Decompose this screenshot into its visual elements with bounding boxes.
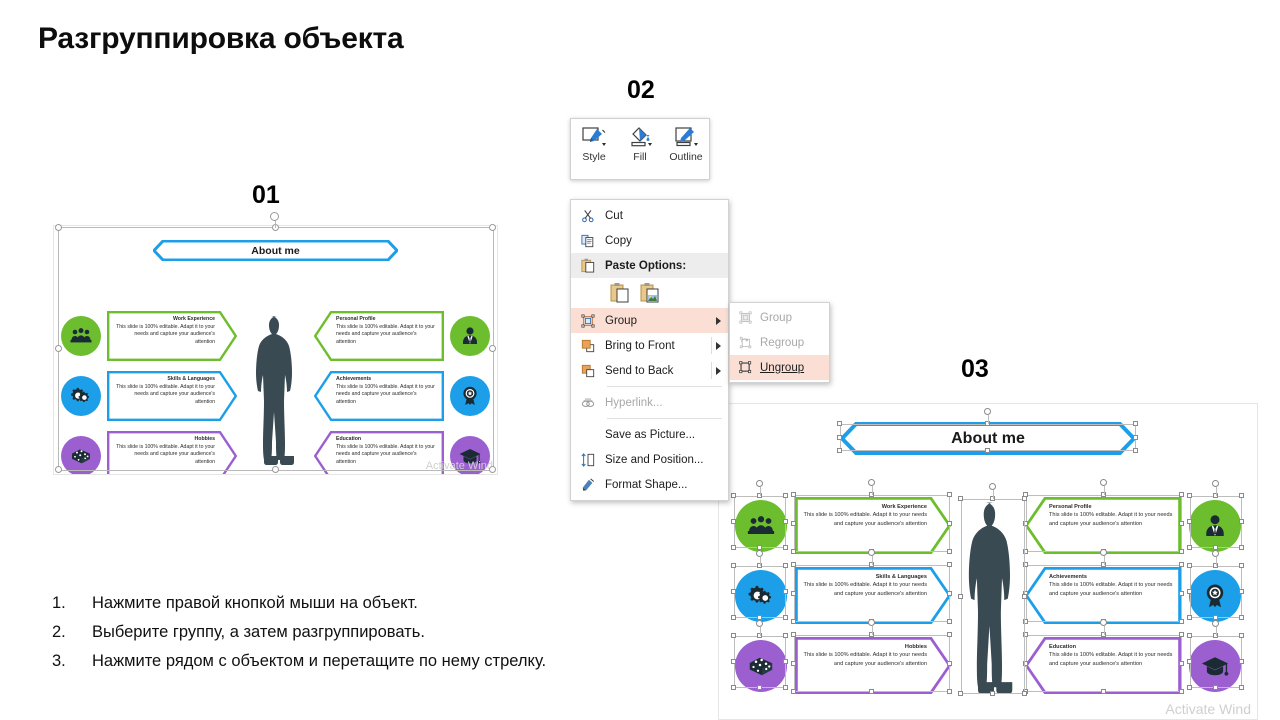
context-menu-item-size-and-position[interactable]: Size and Position... — [571, 447, 728, 472]
person-suit-icon-glyph — [458, 324, 482, 348]
info-card-text: Personal Profile This slide is 100% edit… — [336, 316, 437, 346]
info-card-body: This slide is 100% editable. Adapt it to… — [803, 581, 927, 598]
person-suit-icon[interactable] — [1189, 500, 1241, 552]
menu-separator — [607, 386, 722, 387]
format-shape-icon — [571, 478, 605, 492]
info-row: Education This slide is 100% editable. A… — [314, 431, 497, 475]
info-card-heading: Education — [1049, 643, 1173, 651]
info-rows: Work Experience This slide is 100% edita… — [54, 226, 497, 474]
group-submenu-group-label: Group — [760, 312, 825, 324]
info-card[interactable]: Achievements This slide is 100% editable… — [314, 371, 444, 421]
info-card[interactable]: Skills & Languages This slide is 100% ed… — [795, 567, 951, 624]
info-card-body: This slide is 100% editable. Adapt it to… — [1049, 511, 1173, 528]
info-card-body: This slide is 100% editable. Adapt it to… — [114, 444, 215, 467]
group-icon — [571, 314, 605, 328]
person-suit-icon-glyph — [1200, 511, 1230, 541]
info-card-text: Hobbies This slide is 100% editable. Ada… — [803, 643, 927, 668]
info-card[interactable]: Personal Profile This slide is 100% edit… — [314, 311, 444, 361]
graduation-cap-icon — [450, 436, 490, 475]
context-menu-hyperlink-label: Hyperlink... — [605, 397, 724, 409]
hyperlink-icon-glyph — [581, 396, 595, 410]
info-card-heading: Personal Profile — [1049, 503, 1173, 511]
hyperlink-icon — [571, 396, 605, 410]
info-card-text: Work Experience This slide is 100% edita… — [803, 503, 927, 528]
fill-bucket-icon-glyph — [627, 126, 653, 148]
chevron-right-icon — [712, 317, 724, 325]
info-card-heading: Personal Profile — [336, 316, 437, 324]
info-row: Work Experience This slide is 100% edita… — [719, 497, 951, 554]
submenu-divider — [711, 362, 712, 379]
shape-style-icon — [581, 124, 607, 150]
graduation-cap-icon[interactable] — [1189, 640, 1241, 692]
award-icon-glyph — [458, 384, 482, 408]
context-menu-group-label: Group — [605, 315, 712, 327]
context-menu-item-copy[interactable]: Copy — [571, 228, 728, 253]
regroup-icon-glyph — [739, 336, 752, 349]
menu-separator — [607, 418, 722, 419]
info-card-heading: Hobbies — [803, 643, 927, 651]
ungroup-icon-glyph — [739, 361, 752, 374]
chevron-right-icon — [712, 342, 724, 350]
group-icon-glyph — [739, 311, 752, 324]
copy-icon — [571, 234, 605, 248]
paste-icon-glyph — [581, 258, 595, 273]
info-card-heading: Work Experience — [114, 316, 215, 324]
submenu-divider — [711, 337, 712, 354]
info-card-body: This slide is 100% editable. Adapt it to… — [114, 324, 215, 347]
graduation-cap-icon-glyph — [1200, 651, 1230, 681]
paste-keep-formatting-icon[interactable] — [609, 281, 631, 305]
context-menu[interactable]: Cut Copy Paste Options: — [570, 199, 729, 501]
bring-front-icon — [571, 339, 605, 353]
group-submenu-item-ungroup[interactable]: Ungroup — [730, 355, 829, 380]
info-card-body: This slide is 100% editable. Adapt it to… — [803, 511, 927, 528]
info-card[interactable]: Work Experience This slide is 100% edita… — [107, 311, 237, 361]
person-suit-icon — [450, 316, 490, 356]
instruction-text: Нажмите правой кнопкой мыши на объект. — [92, 589, 418, 618]
mini-toolbar[interactable]: Style Fill Outline — [570, 118, 710, 180]
scissors-icon-glyph — [581, 209, 595, 223]
group-submenu-regroup-label: Regroup — [760, 337, 825, 349]
slide-content: About me — [54, 226, 497, 474]
info-card[interactable]: Hobbies This slide is 100% editable. Ada… — [795, 637, 951, 694]
group-submenu-item-regroup: Regroup — [730, 330, 829, 355]
page-title: Разгруппировка объекта — [38, 22, 404, 56]
mini-toolbar-fill-label: Fill — [633, 151, 646, 163]
slide-preview-ungrouped[interactable]: About me — [718, 403, 1258, 720]
info-row: Personal Profile This slide is 100% edit… — [314, 311, 497, 361]
award-icon[interactable] — [1189, 570, 1241, 622]
instructions-list: 1. Нажмите правой кнопкой мыши на объект… — [52, 589, 546, 676]
outline-pen-icon-glyph — [673, 126, 699, 148]
outline-pen-icon — [673, 124, 699, 150]
context-menu-item-group[interactable]: Group — [571, 308, 728, 333]
fill-bucket-icon — [627, 124, 653, 150]
info-card-heading: Achievements — [336, 376, 437, 384]
context-menu-item-send-to-back[interactable]: Send to Back — [571, 358, 728, 383]
paste-picture-icon[interactable] — [639, 281, 661, 305]
mini-toolbar-outline-button[interactable]: Outline — [663, 124, 709, 163]
info-row: Education This slide is 100% editable. A… — [1025, 637, 1257, 694]
info-row: Personal Profile This slide is 100% edit… — [1025, 497, 1257, 554]
rotation-handle[interactable] — [270, 212, 279, 221]
gears-icon-glyph — [746, 581, 776, 611]
info-card-text: Skills & Languages This slide is 100% ed… — [114, 376, 215, 406]
info-card-body: This slide is 100% editable. Adapt it to… — [336, 384, 437, 407]
info-card-text: Achievements This slide is 100% editable… — [1049, 573, 1173, 598]
regroup-icon — [730, 336, 760, 349]
info-card-body: This slide is 100% editable. Adapt it to… — [336, 444, 437, 467]
step-number-03: 03 — [961, 355, 989, 384]
gears-icon — [61, 376, 101, 416]
context-menu-bring-to-front-label: Bring to Front — [605, 340, 712, 352]
context-menu-save-as-picture-label: Save as Picture... — [605, 429, 724, 441]
award-icon — [450, 376, 490, 416]
paste-icon — [571, 258, 605, 273]
instruction-item: 1. Нажмите правой кнопкой мыши на объект… — [52, 589, 546, 618]
instruction-text: Выберите группу, а затем разгруппировать… — [92, 618, 425, 647]
send-back-icon-glyph — [581, 364, 595, 378]
info-card-body: This slide is 100% editable. Adapt it to… — [114, 384, 215, 407]
paste-options-row — [571, 278, 728, 308]
info-card-heading: Work Experience — [803, 503, 927, 511]
award-icon-glyph — [1200, 581, 1230, 611]
mini-toolbar-outline-label: Outline — [669, 151, 702, 163]
info-row: Achievements This slide is 100% editable… — [314, 371, 497, 421]
paste-keep-formatting-icon-glyph — [610, 282, 630, 304]
chevron-right-icon-glyph — [716, 367, 721, 375]
ungroup-icon — [730, 361, 760, 374]
info-card[interactable]: Work Experience This slide is 100% edita… — [795, 497, 951, 554]
instruction-number: 2. — [52, 618, 92, 647]
info-card-text: Hobbies This slide is 100% editable. Ada… — [114, 436, 215, 466]
info-rows: Work Experience This slide is 100% edita… — [719, 404, 1257, 719]
info-card-body: This slide is 100% editable. Adapt it to… — [1049, 581, 1173, 598]
context-menu-item-cut[interactable]: Cut — [571, 203, 728, 228]
info-card-body: This slide is 100% editable. Adapt it to… — [336, 324, 437, 347]
instruction-number: 1. — [52, 589, 92, 618]
about-me-label: About me — [251, 245, 299, 257]
group-submenu-ungroup-label: Ungroup — [760, 362, 825, 374]
context-menu-item-hyperlink: Hyperlink... — [571, 390, 728, 415]
group-submenu-item-group: Group — [730, 305, 829, 330]
info-card[interactable]: Education This slide is 100% editable. A… — [1025, 637, 1181, 694]
info-card-text: Education This slide is 100% editable. A… — [1049, 643, 1173, 668]
info-card-body: This slide is 100% editable. Adapt it to… — [1049, 651, 1173, 668]
group-icon-glyph — [581, 314, 595, 328]
format-shape-icon-glyph — [581, 478, 595, 492]
context-menu-item-format-shape[interactable]: Format Shape... — [571, 472, 728, 497]
info-row: Achievements This slide is 100% editable… — [1025, 567, 1257, 624]
info-row: Work Experience This slide is 100% edita… — [54, 311, 237, 361]
chevron-right-icon — [712, 367, 724, 375]
context-menu-format-shape-label: Format Shape... — [605, 479, 724, 491]
context-menu-paste-options-label: Paste Options: — [605, 260, 724, 272]
copy-icon-glyph — [581, 234, 595, 248]
group-submenu[interactable]: Group Regroup Ungroup — [729, 302, 830, 383]
mini-toolbar-fill-button[interactable]: Fill — [617, 124, 663, 163]
scissors-icon — [571, 209, 605, 223]
info-card[interactable]: Education This slide is 100% editable. A… — [314, 431, 444, 475]
gears-icon-glyph — [69, 384, 93, 408]
team-icon-glyph — [746, 511, 776, 541]
info-card-heading: Achievements — [1049, 573, 1173, 581]
context-menu-item-paste-options: Paste Options: — [571, 253, 728, 278]
info-card-heading: Skills & Languages — [803, 573, 927, 581]
team-icon[interactable] — [735, 500, 787, 552]
info-card-heading: Education — [336, 436, 437, 444]
info-card-body: This slide is 100% editable. Adapt it to… — [803, 651, 927, 668]
step-number-02: 02 — [627, 76, 655, 105]
info-card-heading: Skills & Languages — [114, 376, 215, 384]
info-card[interactable]: Personal Profile This slide is 100% edit… — [1025, 497, 1181, 554]
info-card-text: Education This slide is 100% editable. A… — [336, 436, 437, 466]
info-card[interactable]: Hobbies This slide is 100% editable. Ada… — [107, 431, 237, 475]
info-card[interactable]: Skills & Languages This slide is 100% ed… — [107, 371, 237, 421]
graduation-cap-icon-glyph — [458, 444, 482, 468]
dice-icon-glyph — [746, 651, 776, 681]
team-icon-glyph — [69, 324, 93, 348]
info-card-heading: Hobbies — [114, 436, 215, 444]
gears-icon[interactable] — [735, 570, 787, 622]
slide-preview-grouped[interactable]: About me — [53, 225, 498, 475]
info-card-text: Skills & Languages This slide is 100% ed… — [803, 573, 927, 598]
info-card-text: Personal Profile This slide is 100% edit… — [1049, 503, 1173, 528]
context-menu-size-and-position-label: Size and Position... — [605, 454, 724, 466]
instruction-item: 2. Выберите группу, а затем разгруппиров… — [52, 618, 546, 647]
about-me-label: About me — [951, 430, 1025, 448]
info-row: Hobbies This slide is 100% editable. Ada… — [719, 637, 951, 694]
info-card-text: Achievements This slide is 100% editable… — [336, 376, 437, 406]
instruction-number: 3. — [52, 647, 92, 676]
context-menu-item-save-as-picture[interactable]: Save as Picture... — [571, 422, 728, 447]
info-row: Skills & Languages This slide is 100% ed… — [54, 371, 237, 421]
bring-front-icon-glyph — [581, 339, 595, 353]
info-card-text: Work Experience This slide is 100% edita… — [114, 316, 215, 346]
team-icon — [61, 316, 101, 356]
context-menu-send-to-back-label: Send to Back — [605, 365, 712, 377]
size-position-icon — [571, 453, 605, 467]
send-back-icon — [571, 364, 605, 378]
context-menu-copy-label: Copy — [605, 235, 724, 247]
info-card[interactable]: Achievements This slide is 100% editable… — [1025, 567, 1181, 624]
info-row: Hobbies This slide is 100% editable. Ada… — [54, 431, 237, 475]
slide-content: About me — [719, 404, 1257, 719]
dice-icon-glyph — [69, 444, 93, 468]
context-menu-item-bring-to-front[interactable]: Bring to Front — [571, 333, 728, 358]
context-menu-cut-label: Cut — [605, 210, 724, 222]
chevron-right-icon-glyph — [716, 317, 721, 325]
paste-picture-icon-glyph — [640, 282, 660, 304]
mini-toolbar-style-label: Style — [582, 151, 605, 163]
dice-icon — [61, 436, 101, 475]
mini-toolbar-style-button[interactable]: Style — [571, 124, 617, 163]
dice-icon[interactable] — [735, 640, 787, 692]
instruction-item: 3. Нажмите рядом с объектом и перетащите… — [52, 647, 546, 676]
group-icon — [730, 311, 760, 324]
size-position-icon-glyph — [581, 453, 595, 467]
shape-style-icon-glyph — [581, 126, 607, 148]
chevron-right-icon-glyph — [716, 342, 721, 350]
info-row: Skills & Languages This slide is 100% ed… — [719, 567, 951, 624]
step-number-01: 01 — [252, 181, 280, 210]
instruction-text: Нажмите рядом с объектом и перетащите по… — [92, 647, 546, 676]
